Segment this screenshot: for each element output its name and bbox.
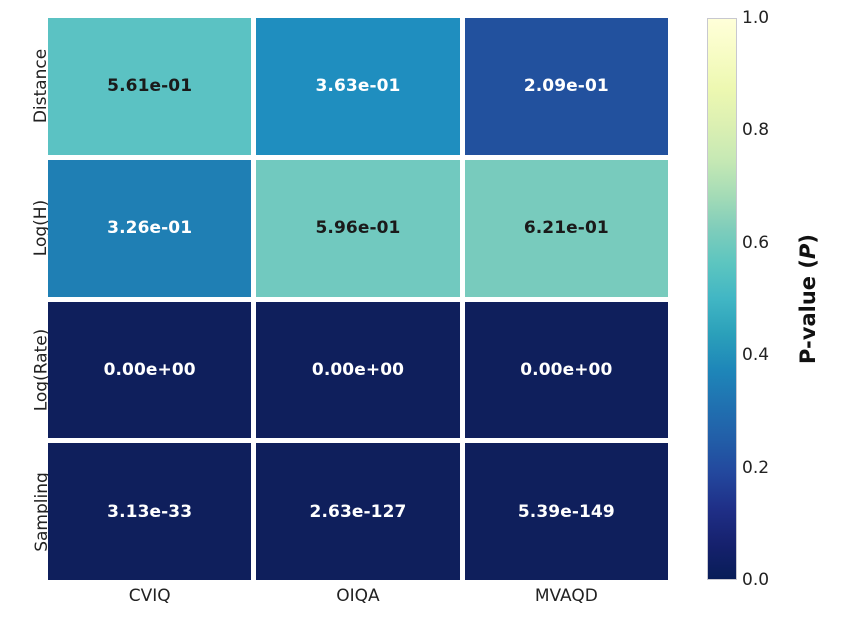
heatmap-cell-value: 5.39e-149 (518, 502, 615, 522)
colorbar-tick-labels: 1.00.80.60.40.20.0 (742, 18, 786, 580)
heatmap-cell-value: 3.13e-33 (107, 502, 192, 522)
colorbar-tick-label: 0.4 (742, 345, 769, 365)
colorbar-tick-label: 1.0 (742, 8, 769, 28)
heatmap-cell-value: 5.96e-01 (315, 218, 400, 238)
heatmap-cell-value: 0.00e+00 (520, 360, 612, 380)
heatmap-cell: 5.96e-01 (256, 160, 459, 297)
heatmap-grid: 5.61e-013.63e-012.09e-013.26e-015.96e-01… (48, 18, 668, 580)
y-axis-tick-labels: DistanceLog(H)Log(Rate)Sampling (0, 18, 44, 580)
heatmap-cell: 2.63e-127 (256, 443, 459, 580)
colorbar-axis-label: P-value (P) (786, 18, 830, 580)
heatmap-cell-value: 2.09e-01 (524, 76, 609, 96)
x-axis-tick-cviq: CVIQ (48, 583, 251, 613)
colorbar (707, 18, 737, 580)
heatmap-cell-value: 6.21e-01 (524, 218, 609, 238)
heatmap-cell: 3.26e-01 (48, 160, 251, 297)
heatmap-cell: 5.61e-01 (48, 18, 251, 155)
heatmap-cell-value: 0.00e+00 (104, 360, 196, 380)
heatmap-cell-value: 3.63e-01 (315, 76, 400, 96)
colorbar-label-text: P-value (P) (796, 234, 820, 364)
heatmap-cell: 2.09e-01 (465, 18, 668, 155)
heatmap-cell: 6.21e-01 (465, 160, 668, 297)
heatmap-cell: 0.00e+00 (256, 302, 459, 439)
heatmap-cell: 3.13e-33 (48, 443, 251, 580)
heatmap-cell: 0.00e+00 (48, 302, 251, 439)
colorbar-tick-label: 0.6 (742, 233, 769, 253)
x-axis-tick-oiqa: OIQA (256, 583, 459, 613)
colorbar-tick-label: 0.0 (742, 570, 769, 590)
heatmap-cell-value: 2.63e-127 (310, 502, 407, 522)
colorbar-label-italic-p: P (796, 244, 820, 259)
heatmap-cell: 0.00e+00 (465, 302, 668, 439)
heatmap-cell: 3.63e-01 (256, 18, 459, 155)
heatmap-cell: 5.39e-149 (465, 443, 668, 580)
x-axis-tick-labels: CVIQOIQAMVAQD (48, 583, 668, 613)
x-axis-tick-mvaqd: MVAQD (465, 583, 668, 613)
heatmap-cell-value: 3.26e-01 (107, 218, 192, 238)
colorbar-tick-label: 0.8 (742, 120, 769, 140)
heatmap-cell-value: 0.00e+00 (312, 360, 404, 380)
colorbar-gradient (707, 18, 737, 580)
heatmap-cell-value: 5.61e-01 (107, 76, 192, 96)
heatmap-plot-area: 5.61e-013.63e-012.09e-013.26e-015.96e-01… (48, 18, 668, 580)
heatmap-figure: DistanceLog(H)Log(Rate)Sampling 5.61e-01… (0, 0, 847, 624)
colorbar-tick-label: 0.2 (742, 458, 769, 478)
